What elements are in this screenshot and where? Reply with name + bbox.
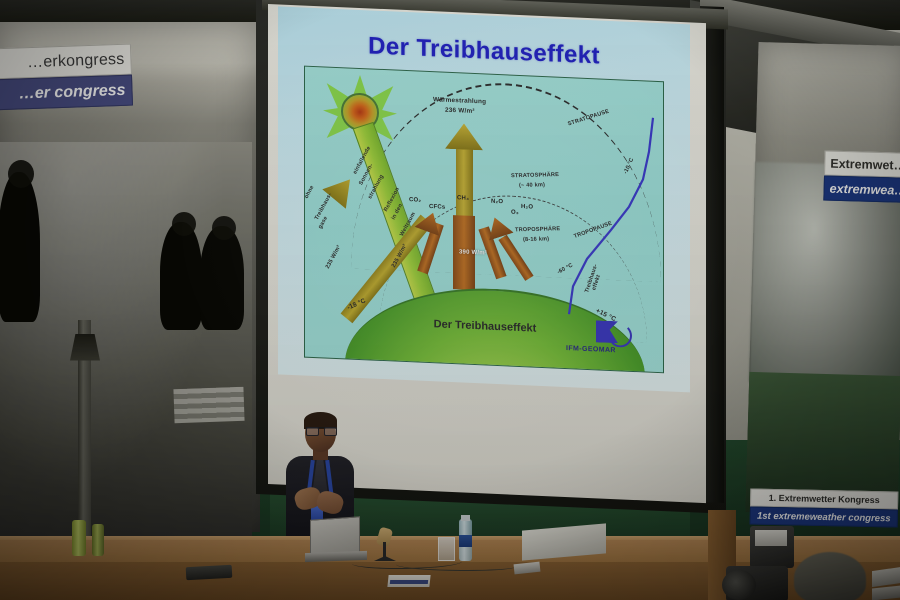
label-stratosphere-altitude: (~ 40 km) [519,182,546,190]
banner-figure-head [212,216,236,240]
label-without-ghg-line1: ohne [304,184,316,200]
gas-label-ch4: CH₄ [457,195,469,203]
ifm-geomar-logo-arc-icon [608,323,632,348]
banner-steps [173,387,244,423]
gas-label-cfcs: CFCs [429,204,445,212]
banner-left-title-de: …erkongress [0,44,132,80]
camera-lens [722,570,756,600]
banner-right-title-de: Extremwet… [824,150,900,178]
camera-flash-face [755,530,787,546]
temperature-profile-curve [525,106,664,362]
bottle-left-2 [92,524,104,556]
screenshot-root: …erkongress …er congress Extremwet… extr… [0,0,900,600]
label-troposphere: TROPOSPHÄRE [515,226,561,234]
label-reflected-value: 235 W/m² [325,244,343,270]
water-bottle-cap [461,515,470,521]
banner-figure-head [172,212,196,236]
banner-figure [200,226,244,330]
label-surface-value: 390 W/m² [459,249,487,258]
laptop-screen [310,516,360,555]
gas-label-n2o: N₂O [491,199,503,207]
photographer-head [794,552,866,600]
banner-figure-head [8,160,34,188]
bottle-left [72,520,86,556]
press-foreground [722,512,900,600]
projected-slide: Der Treibhauseffekt [278,6,690,392]
label-stratosphere: STRATOSPHÄRE [511,172,560,180]
banner-right-title-en: extremwea… [823,175,900,203]
name-card-bar [390,580,428,584]
banner-left-photo [0,142,252,542]
gas-label-co2: CO₂ [409,197,421,205]
dark-object-on-table [186,565,233,580]
gas-label-o3: O₃ [511,210,519,218]
banner-right-title-plate: Extremwet… extremwea… [823,150,900,203]
banner-figure [0,172,40,322]
speaker-glasses-lens [306,427,319,436]
banner-left-title-plate: …erkongress …er congress [0,44,133,111]
label-troposphere-altitude: (8-16 km) [523,236,550,244]
banner-figure [160,222,202,330]
label-heat-radiation-value: 236 W/m² [445,107,475,116]
banner-left-title-en: …er congress [0,75,133,111]
gas-label-h2o: H₂O [521,204,533,212]
speaker-glasses-lens [324,427,337,436]
foreground-laptop-screen [872,565,900,587]
water-bottle-label [459,535,472,547]
banner-right [745,42,900,516]
